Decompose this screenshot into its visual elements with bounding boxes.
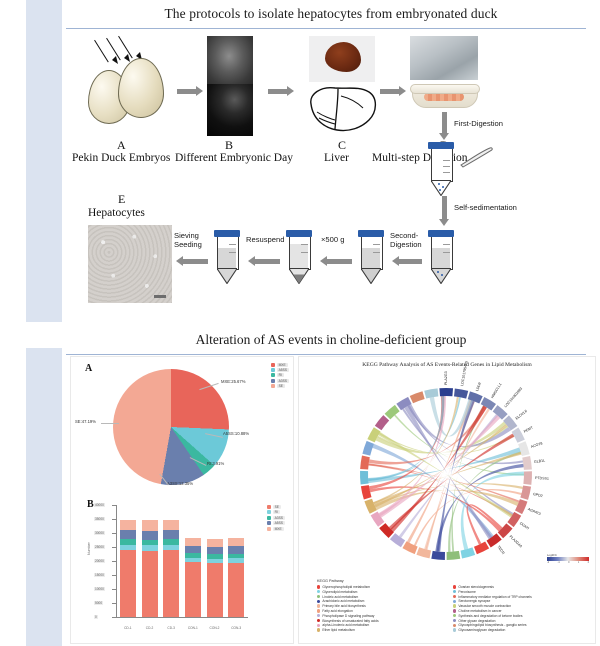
chord-arc-segment [447, 551, 461, 560]
kegg-legend-swatch [453, 600, 456, 603]
kegg-legend-label: Ovarian steroidogenesis [458, 585, 494, 589]
kegg-legend-swatch [453, 595, 456, 598]
panel-as-events-title: Alteration of AS events in choline-defic… [62, 332, 600, 348]
bar-legend-label: A3SS [273, 516, 285, 520]
kegg-legend-label: Peroxisome [458, 590, 475, 594]
kegg-legend-swatch [453, 624, 456, 627]
kegg-legend-label: Glycerophospholipid metabolism [322, 585, 370, 589]
kegg-legend-label: Glycerolipid metabolism [322, 590, 357, 594]
bar-x-tick-label: CD-2 [146, 626, 153, 630]
first-digestion-arrow [439, 112, 449, 140]
centrifuge-label: ×500 g [321, 236, 344, 245]
second-digestion-label-line2: Digestion [390, 241, 422, 250]
bar-legend-swatch [267, 516, 271, 520]
bar-y-tick [112, 533, 116, 534]
chord-arc-segment [522, 456, 532, 470]
duck-eggs-icon [82, 38, 182, 134]
tube-second-digestion [358, 230, 384, 282]
self-sedimentation-label: Self-sedimentation [454, 204, 517, 213]
kegg-legend-label: alpha-Linolenic acid metabolism [322, 623, 369, 627]
flow-arrow-sieving [176, 256, 208, 266]
kegg-legend-swatch [317, 628, 320, 631]
kegg-legend-swatch [453, 590, 456, 593]
kegg-legend-item: Glycosphingolipid biosynthesis - ganglio… [453, 623, 581, 627]
step-letter-e: E [118, 192, 125, 207]
bar-x-tick-label: CON-1 [188, 626, 198, 630]
resuspend-label: Resuspend [246, 236, 284, 245]
bar-y-tick [112, 505, 116, 506]
kegg-legend-swatch [317, 585, 320, 588]
bar-column [120, 520, 136, 617]
bar-y-tick-label: 30000 [94, 531, 105, 535]
kegg-legend-swatch [317, 595, 320, 598]
bar-legend-label: MXE [273, 527, 284, 531]
embryo-photo-day-early [207, 36, 253, 84]
bar-y-tick-label: 15000 [94, 573, 105, 577]
bar-x-tick-label: CON-2 [210, 626, 220, 630]
chord-gene-label: PLA2G3 [444, 371, 448, 385]
bar-chart-legend: SERIA3SSA5SSMXE [267, 505, 285, 532]
chord-arc-segment [439, 388, 453, 396]
colorbar-tick-label: 2 [588, 561, 589, 564]
kegg-legend-column-2: Ovarian steroidogenesisPeroxisomeInflamm… [453, 585, 581, 633]
kegg-legend-item: Vascular smooth muscle contraction [453, 604, 581, 608]
embryo-photo-day-late [207, 84, 253, 136]
kegg-pathway-legend: KEGG Pathway Glycerophospholipid metabol… [317, 579, 581, 633]
kegg-legend-column-1: Glycerophospholipid metabolismGlycerolip… [317, 585, 445, 633]
bar-segment [120, 550, 136, 617]
bar-segment [207, 563, 223, 617]
kegg-legend-item: Linoleic acid metabolism [317, 595, 445, 599]
bar-y-tick-label: 20000 [94, 559, 105, 563]
pie-legend-swatch [271, 363, 275, 367]
chord-arc-segment [362, 441, 374, 456]
kegg-legend-item: Serotonergic synapse [453, 599, 581, 603]
colorbar-tick-label: -2 [547, 561, 549, 564]
as-events-bar-chart: B Number CD-1CD-2CD-3CON-1CON-2CON-3 SER… [81, 499, 287, 637]
left-accent-bar-top [26, 0, 62, 322]
chord-arc-segment [410, 391, 425, 403]
pie-slices [113, 369, 229, 485]
step-caption-c: Liver [324, 152, 349, 164]
kegg-legend-swatch [453, 628, 456, 631]
bar-segment [142, 551, 158, 617]
liver-line-drawing [305, 82, 381, 140]
pie-legend-item: A5SS [271, 368, 289, 372]
subpanel-letter-a: A [85, 363, 92, 374]
chord-arc-segment [360, 471, 369, 485]
bar-x-tick-label: CD-3 [167, 626, 174, 630]
pie-legend: MXEA5SSRIA3SSSE [271, 363, 289, 389]
chord-arc-segment [454, 388, 468, 398]
bar-y-tick-label: 5000 [94, 601, 103, 605]
bar-segment [142, 531, 158, 540]
chord-arc-segment [424, 388, 438, 398]
bar-segment [228, 563, 244, 617]
bar-legend-item: RI [267, 510, 285, 514]
tube-resuspended [214, 230, 240, 282]
bar-y-tick [112, 519, 116, 520]
tube-first-digestion [428, 142, 454, 194]
kegg-legend-item: Glycosaminoglycan degradation [453, 628, 581, 632]
pie-label-mxe: MXE:25.67% [221, 379, 245, 384]
bar-y-tick [112, 575, 116, 576]
kegg-legend-label: Inflammatory mediator regulation of TRP … [458, 595, 531, 599]
bar-segment [120, 520, 136, 530]
chord-arc-segment [474, 541, 489, 554]
bar-legend-swatch [267, 527, 271, 531]
bar-y-tick-label: 0 [94, 615, 98, 619]
flow-arrow-centrifuge [320, 256, 352, 266]
kegg-legend-item: Phospholipase D signaling pathway [317, 614, 445, 618]
kegg-legend-swatch [317, 614, 320, 617]
kegg-legend-label: Arachidonic acid metabolism [322, 599, 364, 603]
bar-legend-swatch [267, 510, 271, 514]
bar-chart-x-axis [116, 617, 248, 618]
bar-segment [228, 546, 244, 553]
kegg-legend-label: Fatty acid elongation [322, 609, 352, 613]
bar-segment [163, 530, 179, 539]
kegg-legend-label: Linoleic acid metabolism [322, 595, 358, 599]
bar-y-tick-label: 10000 [94, 587, 105, 591]
kegg-legend-label: Ether lipid metabolism [322, 628, 354, 632]
kegg-legend-swatch [317, 604, 320, 607]
colorbar-ticks: -2-1012 [547, 561, 589, 564]
pie-legend-item: MXE [271, 363, 289, 367]
pie-legend-swatch [271, 379, 275, 383]
bar-segment [185, 562, 201, 617]
flow-arrow-c-d [380, 86, 406, 96]
pie-label-a3ss: A3SS:12.35% [167, 481, 193, 486]
bar-y-tick [112, 617, 116, 618]
kegg-legend-label: Glycosphingolipid biosynthesis - ganglio… [458, 623, 526, 627]
flow-arrow-b-c [268, 86, 294, 96]
pie-legend-label: A3SS [277, 379, 289, 383]
bar-column [163, 520, 179, 617]
first-digestion-label: First-Digestion [454, 120, 503, 129]
bar-column [142, 520, 158, 617]
panel-protocol-title: The protocols to isolate hepatocytes fro… [62, 6, 600, 22]
pie-legend-swatch [271, 384, 275, 388]
kegg-legend-label: Vascular smooth muscle contraction [458, 604, 511, 608]
bar-chart-y-axis-label: Number [87, 542, 91, 555]
step-caption-a: Pekin Duck Embryos [72, 152, 170, 164]
bar-legend-item: A5SS [267, 521, 285, 525]
kegg-legend-item: Glycerolipid metabolism [317, 590, 445, 594]
tube-sedimented [428, 230, 454, 282]
panel-as-events: Alteration of AS events in choline-defic… [62, 330, 600, 646]
pie-legend-item: SE [271, 384, 289, 388]
kegg-legend-label: Glycosaminoglycan degradation [458, 628, 505, 632]
bar-legend-label: A5SS [273, 521, 285, 525]
kegg-legend-label: Serotonergic synapse [458, 599, 490, 603]
colorbar-tick-label: 0 [568, 561, 569, 564]
pie-legend-swatch [271, 373, 275, 377]
bar-y-tick [112, 547, 116, 548]
chord-arc-segment [523, 471, 532, 485]
bar-legend-item: SE [267, 505, 285, 509]
bar-segment [207, 547, 223, 554]
kegg-legend-item: Biosynthesis of unsaturated fatty acids [317, 619, 445, 623]
bar-legend-item: A3SS [267, 516, 285, 520]
bar-y-tick [112, 561, 116, 562]
bar-segment [142, 520, 158, 530]
colorbar-tick-label: 1 [578, 561, 579, 564]
bar-segment [120, 530, 136, 539]
kegg-legend-item: Ovarian steroidogenesis [453, 585, 581, 589]
bar-segment [228, 538, 244, 546]
panel-protocol-divider [66, 28, 586, 29]
kegg-legend-label: Primary bile acid biosynthesis [322, 604, 365, 608]
dissection-photo [410, 36, 478, 80]
kegg-legend-item: Synthesis and degradation of ketone bodi… [453, 614, 581, 618]
kegg-legend-swatch [317, 619, 320, 622]
kegg-legend-item: Ether lipid metabolism [317, 628, 445, 632]
kegg-legend-swatch [317, 609, 320, 612]
tube-pellet [286, 230, 312, 282]
kegg-legend-label: Other glycan degradation [458, 619, 495, 623]
chord-arc-segment [375, 415, 389, 430]
bar-y-tick [112, 603, 116, 604]
chord-arc-segment [461, 547, 476, 558]
kegg-legend-item: Fatty acid elongation [317, 609, 445, 613]
bar-legend-label: SE [273, 505, 281, 509]
chord-ribbon [430, 397, 473, 436]
panel-protocol: The protocols to isolate hepatocytes fro… [62, 0, 600, 330]
pie-legend-label: A5SS [277, 368, 289, 372]
pie-legend-swatch [271, 368, 275, 372]
chord-arc-segment [360, 456, 370, 470]
chord-arc-segment [416, 547, 431, 558]
bar-y-tick-label: 35000 [94, 517, 105, 521]
bar-y-tick-label: 40000 [94, 503, 105, 507]
kegg-legend-item: Inflammatory mediator regulation of TRP … [453, 595, 581, 599]
bar-column [228, 538, 244, 617]
kegg-legend-item: Other glycan degradation [453, 619, 581, 623]
kegg-legend-swatch [453, 614, 456, 617]
log2fc-colorbar: Log2FC -2-1012 [547, 553, 589, 564]
kegg-legend-item: Arachidonic acid metabolism [317, 599, 445, 603]
bar-segment [163, 520, 179, 530]
bar-segment [185, 538, 201, 546]
pie-label-a5ss: A5SS:10.88% [223, 431, 249, 436]
bar-legend-item: MXE [267, 527, 285, 531]
kegg-legend-item: alpha-Linolenic acid metabolism [317, 623, 445, 627]
bar-x-tick-label: CON-3 [231, 626, 241, 630]
bar-column [207, 539, 223, 617]
kegg-legend-item: Peroxisome [453, 590, 581, 594]
figure-as-distribution: A MXE:25.67% A5SS:10.88% RI:3.91% A3SS:1… [70, 356, 294, 644]
kegg-legend-item: Choline metabolism in cancer [453, 609, 581, 613]
kegg-chart-title: KEGG Pathway Analysis of AS Events-Relat… [299, 362, 595, 368]
kegg-legend-header: KEGG Pathway [317, 579, 581, 583]
figure-kegg-chord: KEGG Pathway Analysis of AS Events-Relat… [298, 356, 596, 644]
kegg-legend-swatch [317, 624, 320, 627]
kegg-legend-swatch [453, 609, 456, 612]
pie-label-ri: RI:3.91% [207, 461, 224, 466]
kegg-legend-label: Choline metabolism in cancer [458, 609, 501, 613]
chord-arc-segment [431, 551, 445, 560]
bar-legend-label: RI [273, 510, 280, 514]
kegg-legend-swatch [317, 590, 320, 593]
kegg-legend-label: Biosynthesis of unsaturated fatty acids [322, 619, 378, 623]
pie-legend-label: SE [277, 384, 285, 388]
liver-photo [309, 36, 375, 82]
self-sedimentation-arrow [439, 196, 449, 226]
subpanel-letter-b: B [87, 499, 94, 510]
as-events-pie-chart [113, 369, 229, 485]
bar-y-tick-label: 25000 [94, 545, 105, 549]
pie-legend-item: A3SS [271, 379, 289, 383]
pie-legend-label: RI [277, 373, 284, 377]
step-letter-b: B [225, 138, 233, 153]
pipette-icon [458, 146, 494, 168]
flow-arrow-second-digestion [392, 256, 422, 266]
bar-legend-swatch [267, 505, 271, 509]
bar-chart-plot-area: CD-1CD-2CD-3CON-1CON-2CON-3 [117, 505, 247, 617]
kegg-legend-swatch [453, 604, 456, 607]
bar-column [185, 538, 201, 617]
left-accent-bar-bottom [26, 348, 62, 646]
kegg-legend-swatch [453, 619, 456, 622]
bar-legend-swatch [267, 521, 271, 525]
culture-dish-icon [410, 84, 478, 110]
flow-arrow-a-b [177, 86, 203, 96]
panel-as-events-divider [66, 354, 586, 355]
kegg-legend-label: Phospholipase D signaling pathway [322, 614, 374, 618]
figure-page: The protocols to isolate hepatocytes fro… [0, 0, 600, 646]
step-letter-c: C [338, 138, 346, 153]
bar-y-tick [112, 589, 116, 590]
step-caption-b: Different Embryonic Day [175, 152, 293, 164]
bar-segment [207, 539, 223, 547]
bar-segment [185, 546, 201, 553]
pie-label-se: SE:47.19% [75, 419, 96, 424]
bar-segment [163, 550, 179, 617]
pie-legend-label: MXE [277, 363, 288, 367]
kegg-legend-swatch [453, 585, 456, 588]
step-caption-e: Hepatocytes [88, 207, 145, 219]
bar-x-tick-label: CD-1 [124, 626, 131, 630]
step-letter-a: A [117, 138, 126, 153]
flow-arrow-resuspend [248, 256, 280, 266]
pie-legend-item: RI [271, 373, 289, 377]
kegg-legend-item: Primary bile acid biosynthesis [317, 604, 445, 608]
kegg-legend-swatch [317, 600, 320, 603]
sieving-label-line2: Seeding [174, 241, 202, 250]
kegg-legend-item: Glycerophospholipid metabolism [317, 585, 445, 589]
hepatocyte-micrograph [88, 225, 172, 303]
kegg-legend-label: Synthesis and degradation of ketone bodi… [458, 614, 522, 618]
colorbar-tick-label: -1 [558, 561, 560, 564]
